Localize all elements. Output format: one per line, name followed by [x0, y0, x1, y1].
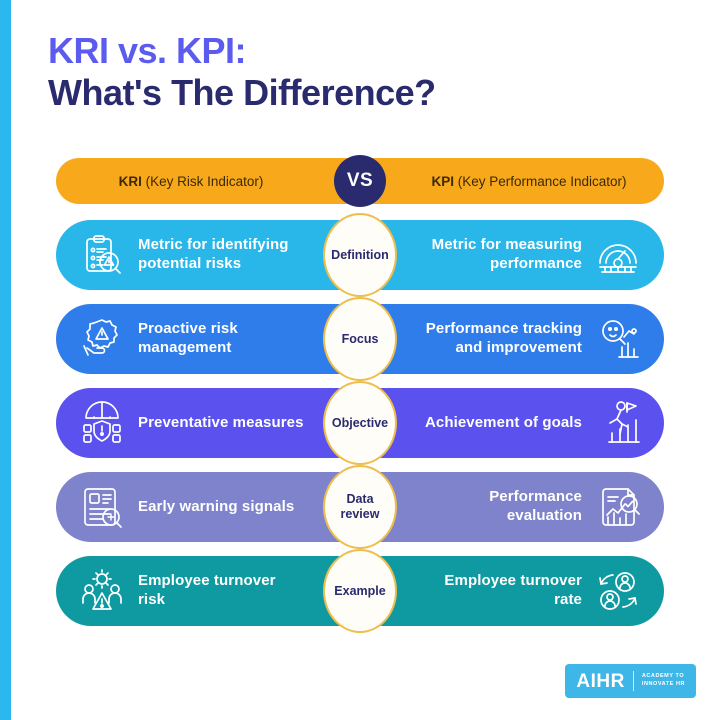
row-center-label: Data review: [325, 492, 395, 522]
header-left-column: KRI (Key Risk Indicator): [56, 158, 304, 204]
document-search-icon: [78, 483, 126, 531]
row-left-label: Proactive risk management: [138, 320, 304, 358]
row-center-badge: Definition: [323, 213, 397, 297]
row-left-label: Employee turnover risk: [138, 572, 304, 610]
people-warning-gear-icon: [78, 567, 126, 615]
aihr-logo-wordmark: AIHR: [576, 672, 624, 691]
title-line-1: KRI vs. KPI:: [48, 30, 668, 72]
aihr-logo: AIHR ACADEMY TO INNOVATE HR: [565, 664, 696, 698]
row-left-cell: Early warning signals: [56, 472, 304, 542]
row-center-label: Example: [330, 584, 389, 599]
logo-divider: [633, 671, 634, 691]
row-center-slot: Example: [304, 556, 416, 626]
row-left-label: Metric for identifying potential risks: [138, 236, 304, 274]
row-right-cell: Metric for measuring performance: [416, 220, 664, 290]
row-center-badge: Objective: [323, 381, 397, 465]
hand-shield-gear-icon: [78, 315, 126, 363]
row-right-cell: Performance evaluation: [416, 472, 664, 542]
row-right-cell: Achievement of goals: [416, 388, 664, 458]
header-kri-abbr: KRI: [119, 174, 142, 189]
chart-magnifier-icon: [594, 315, 642, 363]
row-center-badge: Data review: [323, 465, 397, 549]
row-right-label: Employee turnover rate: [416, 572, 582, 610]
row-left-cell: Proactive risk management: [56, 304, 304, 374]
umbrella-shield-icon: [78, 399, 126, 447]
row-center-label: Focus: [338, 332, 383, 347]
header-kpi-abbr: KPI: [431, 174, 454, 189]
row-left-label: Preventative measures: [138, 414, 304, 433]
row-right-cell: Performance tracking and improvement: [416, 304, 664, 374]
row-center-slot: Data review: [304, 472, 416, 542]
goal-growth-icon: [594, 399, 642, 447]
header-kri-expansion: (Key Risk Indicator): [142, 174, 264, 189]
report-check-icon: [594, 483, 642, 531]
aihr-logo-tagline: ACADEMY TO INNOVATE HR: [642, 673, 685, 689]
row-right-label: Achievement of goals: [425, 414, 582, 433]
row-center-slot: Definition: [304, 220, 416, 290]
header-kri-label: KRI (Key Risk Indicator): [78, 174, 304, 189]
row-center-label: Definition: [327, 248, 393, 263]
performance-gauge-icon: [594, 231, 642, 279]
aihr-tagline-line-2: INNOVATE HR: [642, 681, 685, 687]
row-right-label: Performance evaluation: [416, 488, 582, 526]
row-right-cell: Employee turnover rate: [416, 556, 664, 626]
comparison-row: Employee turnover risk Example Employee …: [56, 556, 664, 626]
header-right-column: KPI (Key Performance Indicator): [416, 158, 664, 204]
comparison-board: KRI (Key Risk Indicator) VS KPI (Key Per…: [0, 158, 720, 640]
title-line-2: What's The Difference?: [48, 72, 668, 114]
page-title: KRI vs. KPI: What's The Difference?: [48, 30, 668, 115]
comparison-row: Metric for identifying potential risks D…: [56, 220, 664, 290]
row-left-label: Early warning signals: [138, 498, 294, 517]
row-left-cell: Preventative measures: [56, 388, 304, 458]
comparison-row: Preventative measures Objective Achievem…: [56, 388, 664, 458]
header-kpi-label: KPI (Key Performance Indicator): [416, 174, 642, 189]
row-center-badge: Focus: [323, 297, 397, 381]
row-left-cell: Metric for identifying potential risks: [56, 220, 304, 290]
comparison-header-bar: KRI (Key Risk Indicator) VS KPI (Key Per…: [56, 158, 664, 204]
vs-badge: VS: [334, 155, 386, 207]
header-kpi-expansion: (Key Performance Indicator): [454, 174, 627, 189]
row-center-slot: Focus: [304, 304, 416, 374]
aihr-tagline-line-1: ACADEMY TO: [642, 673, 684, 679]
header-center-slot: VS: [304, 158, 416, 204]
comparison-row: Proactive risk management Focus Performa…: [56, 304, 664, 374]
row-left-cell: Employee turnover risk: [56, 556, 304, 626]
row-right-label: Metric for measuring performance: [416, 236, 582, 274]
clipboard-risk-icon: [78, 231, 126, 279]
row-right-label: Performance tracking and improvement: [416, 320, 582, 358]
people-cycle-icon: [594, 567, 642, 615]
row-center-label: Objective: [328, 416, 392, 431]
row-center-slot: Objective: [304, 388, 416, 458]
comparison-row: Early warning signals Data review Perfor…: [56, 472, 664, 542]
row-center-badge: Example: [323, 549, 397, 633]
